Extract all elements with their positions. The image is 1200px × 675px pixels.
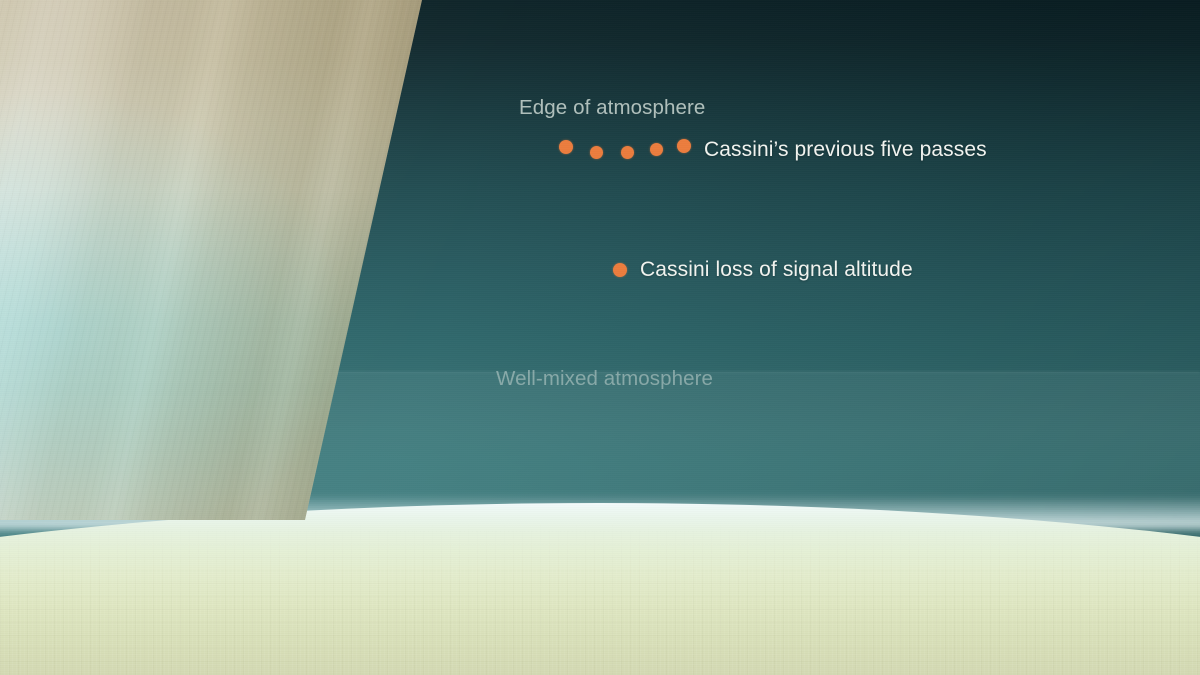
label-previous-five-passes: Cassini’s previous five passes [704,138,987,162]
label-well-mixed-atmosphere: Well-mixed atmosphere [496,367,713,391]
planet-cloud-texture [0,520,1200,675]
label-edge-of-atmosphere: Edge of atmosphere [519,96,705,120]
saturn-atmosphere-diagram: Edge of atmosphere Well-mixed atmosphere… [0,0,1200,675]
previous-pass-marker-4 [650,143,663,156]
loss-of-signal-marker [613,263,627,277]
previous-pass-marker-1 [559,140,573,154]
previous-pass-marker-3 [621,146,634,159]
previous-pass-marker-2 [590,146,603,159]
label-loss-of-signal-altitude: Cassini loss of signal altitude [640,258,913,282]
previous-pass-marker-5 [677,139,691,153]
